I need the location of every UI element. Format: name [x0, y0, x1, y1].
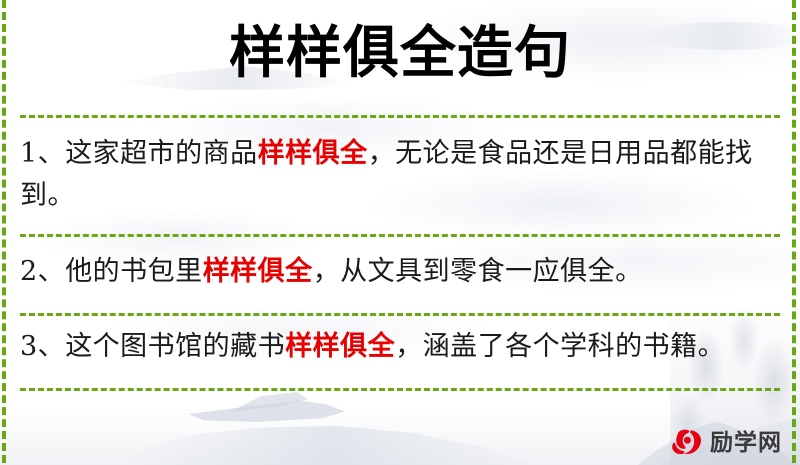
sentence-text-before-1: 这家超市的商品	[65, 138, 258, 169]
sentence-index-1: 1、	[20, 138, 65, 169]
sentence-index-2: 2、	[20, 256, 65, 287]
red-swirl-icon	[670, 423, 704, 457]
sentence-highlight-3: 样样俱全	[285, 331, 395, 362]
watermark-boat	[185, 398, 345, 424]
separator-1	[20, 115, 780, 118]
sentence-item-2: 2、他的书包里样样俱全，从文具到零食一应俱全。	[20, 251, 776, 293]
sentence-text-after-2: ，从文具到零食一应俱全。	[313, 256, 643, 287]
sentence-text-after-3: ，涵盖了各个学科的书籍。	[395, 331, 725, 362]
sentence-item-3: 3、这个图书馆的藏书样样俱全，涵盖了各个学科的书籍。	[20, 326, 776, 368]
site-logo-text: 励学网	[710, 423, 782, 457]
site-logo[interactable]: 励学网	[670, 423, 782, 457]
sentence-highlight-2: 样样俱全	[203, 256, 313, 287]
watermark-boat-sail	[230, 392, 308, 412]
sentence-item-1: 1、这家超市的商品样样俱全，无论是食品还是日用品都能找到。	[20, 133, 776, 217]
sentence-highlight-1: 样样俱全	[258, 138, 368, 169]
watermark-shoreline	[120, 398, 540, 465]
separator-2	[20, 234, 780, 237]
separator-3	[20, 313, 780, 316]
slide-page: 样样俱全造句 1、这家超市的商品样样俱全，无论是食品还是日用品都能找到。 2、他…	[0, 0, 800, 465]
separator-4	[20, 388, 780, 391]
sentence-text-before-3: 这个图书馆的藏书	[65, 331, 285, 362]
sentence-index-3: 3、	[20, 331, 65, 362]
sentence-text-before-2: 他的书包里	[65, 256, 203, 287]
page-title: 样样俱全造句	[0, 18, 800, 88]
